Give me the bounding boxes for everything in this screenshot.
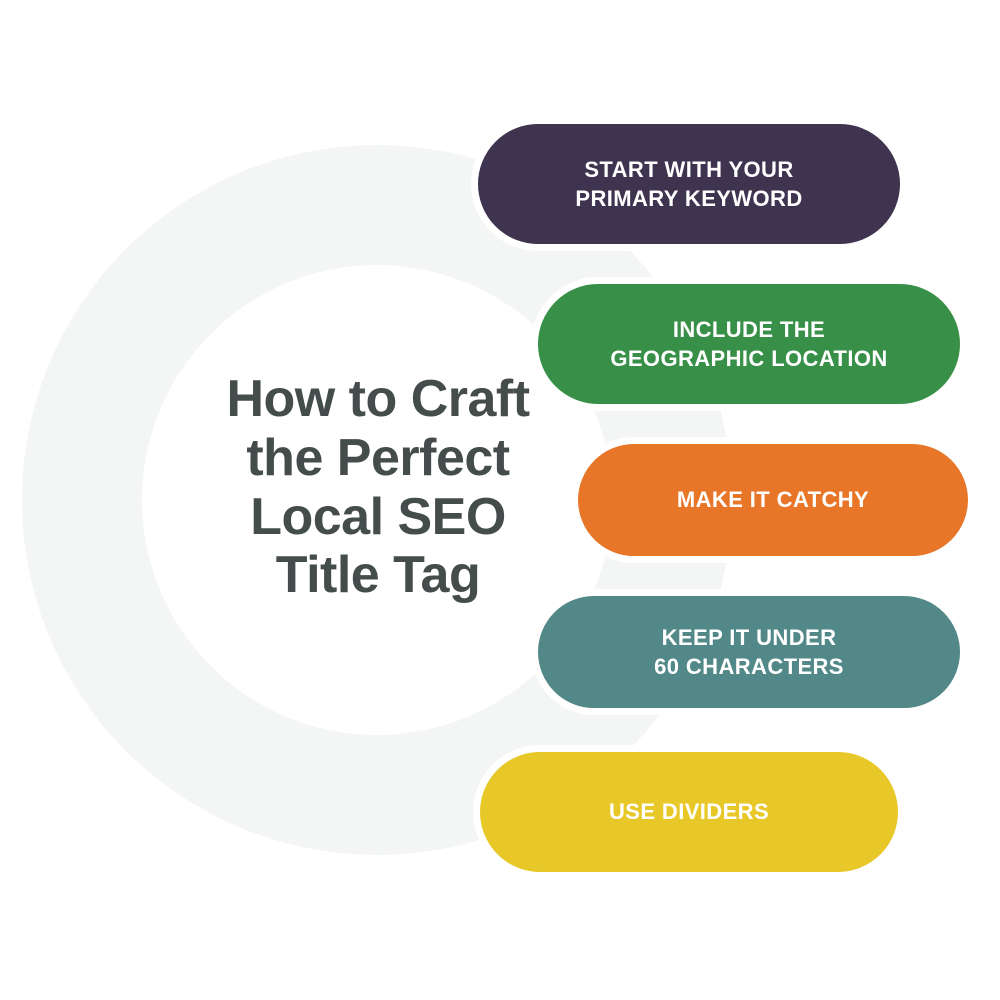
step-pill-label: USE DIVIDERS [506, 797, 872, 826]
step-pill-label: MAKE IT CATCHY [604, 485, 942, 514]
step-pill-make-it-catchy[interactable]: MAKE IT CATCHY [571, 437, 975, 563]
step-pill-label: START WITH YOUR PRIMARY KEYWORD [504, 155, 874, 213]
page-title-text: How to Craft the Perfect Local SEO Title… [180, 370, 576, 605]
page-title: How to Craft the Perfect Local SEO Title… [180, 370, 576, 605]
step-pill-include-the-geographic-location[interactable]: INCLUDE THE GEOGRAPHIC LOCATION [531, 277, 967, 411]
step-pill-use-dividers[interactable]: USE DIVIDERS [473, 745, 905, 879]
step-pill-label: KEEP IT UNDER 60 CHARACTERS [564, 623, 934, 681]
step-pill-label: INCLUDE THE GEOGRAPHIC LOCATION [564, 315, 934, 373]
step-pill-start-with-your-primary-keyword[interactable]: START WITH YOUR PRIMARY KEYWORD [471, 117, 907, 251]
infographic-canvas: How to Craft the Perfect Local SEO Title… [0, 0, 1000, 1000]
step-pill-keep-it-under-60-characters[interactable]: KEEP IT UNDER 60 CHARACTERS [531, 589, 967, 715]
